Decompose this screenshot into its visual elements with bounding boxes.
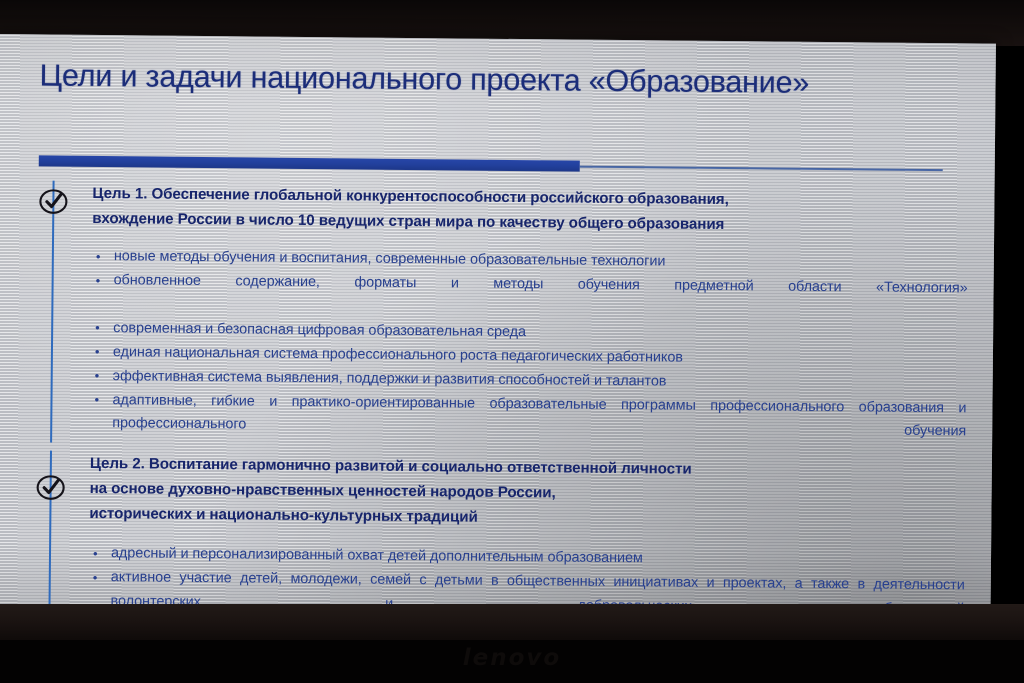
goal-2-heading: Цель 2. Воспитание гармонично развитой и… — [89, 451, 966, 534]
goal-accent-rail — [50, 181, 55, 443]
goal-block-2: Цель 2. Воспитание гармонично развитой и… — [34, 450, 966, 621]
slide-title: Цели и задачи национального проекта «Обр… — [39, 58, 969, 102]
circled-check-icon — [36, 472, 66, 502]
slide-surface: Цели и задачи национального проекта «Обр… — [0, 34, 996, 622]
circled-check-icon — [38, 186, 68, 216]
presentation-slide: Цели и задачи национального проекта «Обр… — [0, 34, 996, 622]
lenovo-logo: lenovo — [0, 645, 1024, 671]
photographed-monitor-scene: Цели и задачи национального проекта «Обр… — [0, 0, 1024, 683]
goal-1-heading: Цель 1. Обеспечение глобальной конкурент… — [92, 181, 968, 239]
title-underline-thin — [580, 166, 943, 171]
title-underline-thick — [39, 155, 580, 171]
goal-1-bullet-list: новые методы обучения и воспитания, совр… — [90, 245, 968, 467]
list-item: обновленное содержание, форматы и методы… — [91, 269, 967, 324]
monitor-bezel-bottom — [0, 604, 1024, 644]
goal-block-1: Цель 1. Обеспечение глобальной конкурент… — [36, 180, 969, 467]
